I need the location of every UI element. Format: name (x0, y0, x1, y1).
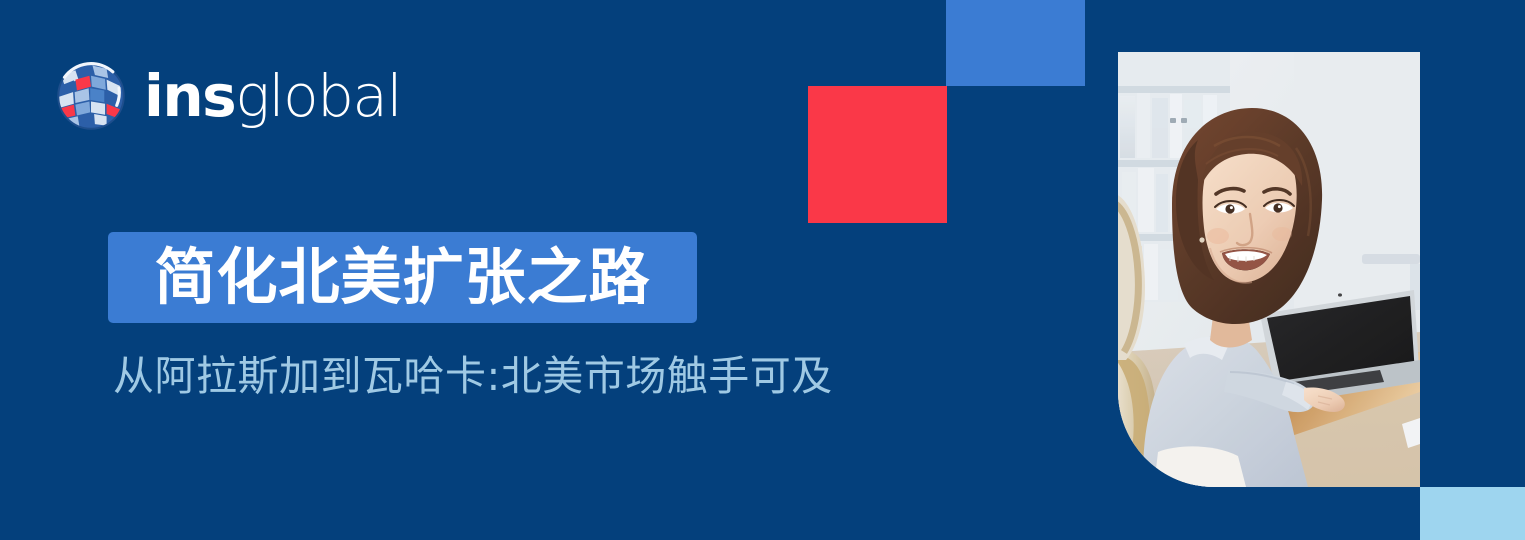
brand-logo-text-light: global (235, 62, 401, 130)
brand-logo[interactable]: insglobal (52, 57, 401, 135)
headline-highlight-box: 简化北美扩张之路 (108, 232, 697, 323)
marketing-banner: insglobal 简化北美扩张之路 从阿拉斯加到瓦哈卡:北美市场触手可及 (0, 0, 1525, 540)
blue-square-top-decoration (946, 0, 1085, 86)
globe-checkered-icon (52, 57, 130, 135)
headline-text: 简化北美扩张之路 (154, 247, 650, 308)
light-blue-square-decoration (1420, 487, 1525, 540)
hero-photo (1118, 52, 1420, 487)
subtitle-text: 从阿拉斯加到瓦哈卡:北美市场触手可及 (113, 352, 833, 401)
red-square-decoration (808, 86, 947, 223)
brand-logo-text-bold: ins (144, 62, 235, 130)
brand-logo-text: insglobal (144, 67, 401, 125)
